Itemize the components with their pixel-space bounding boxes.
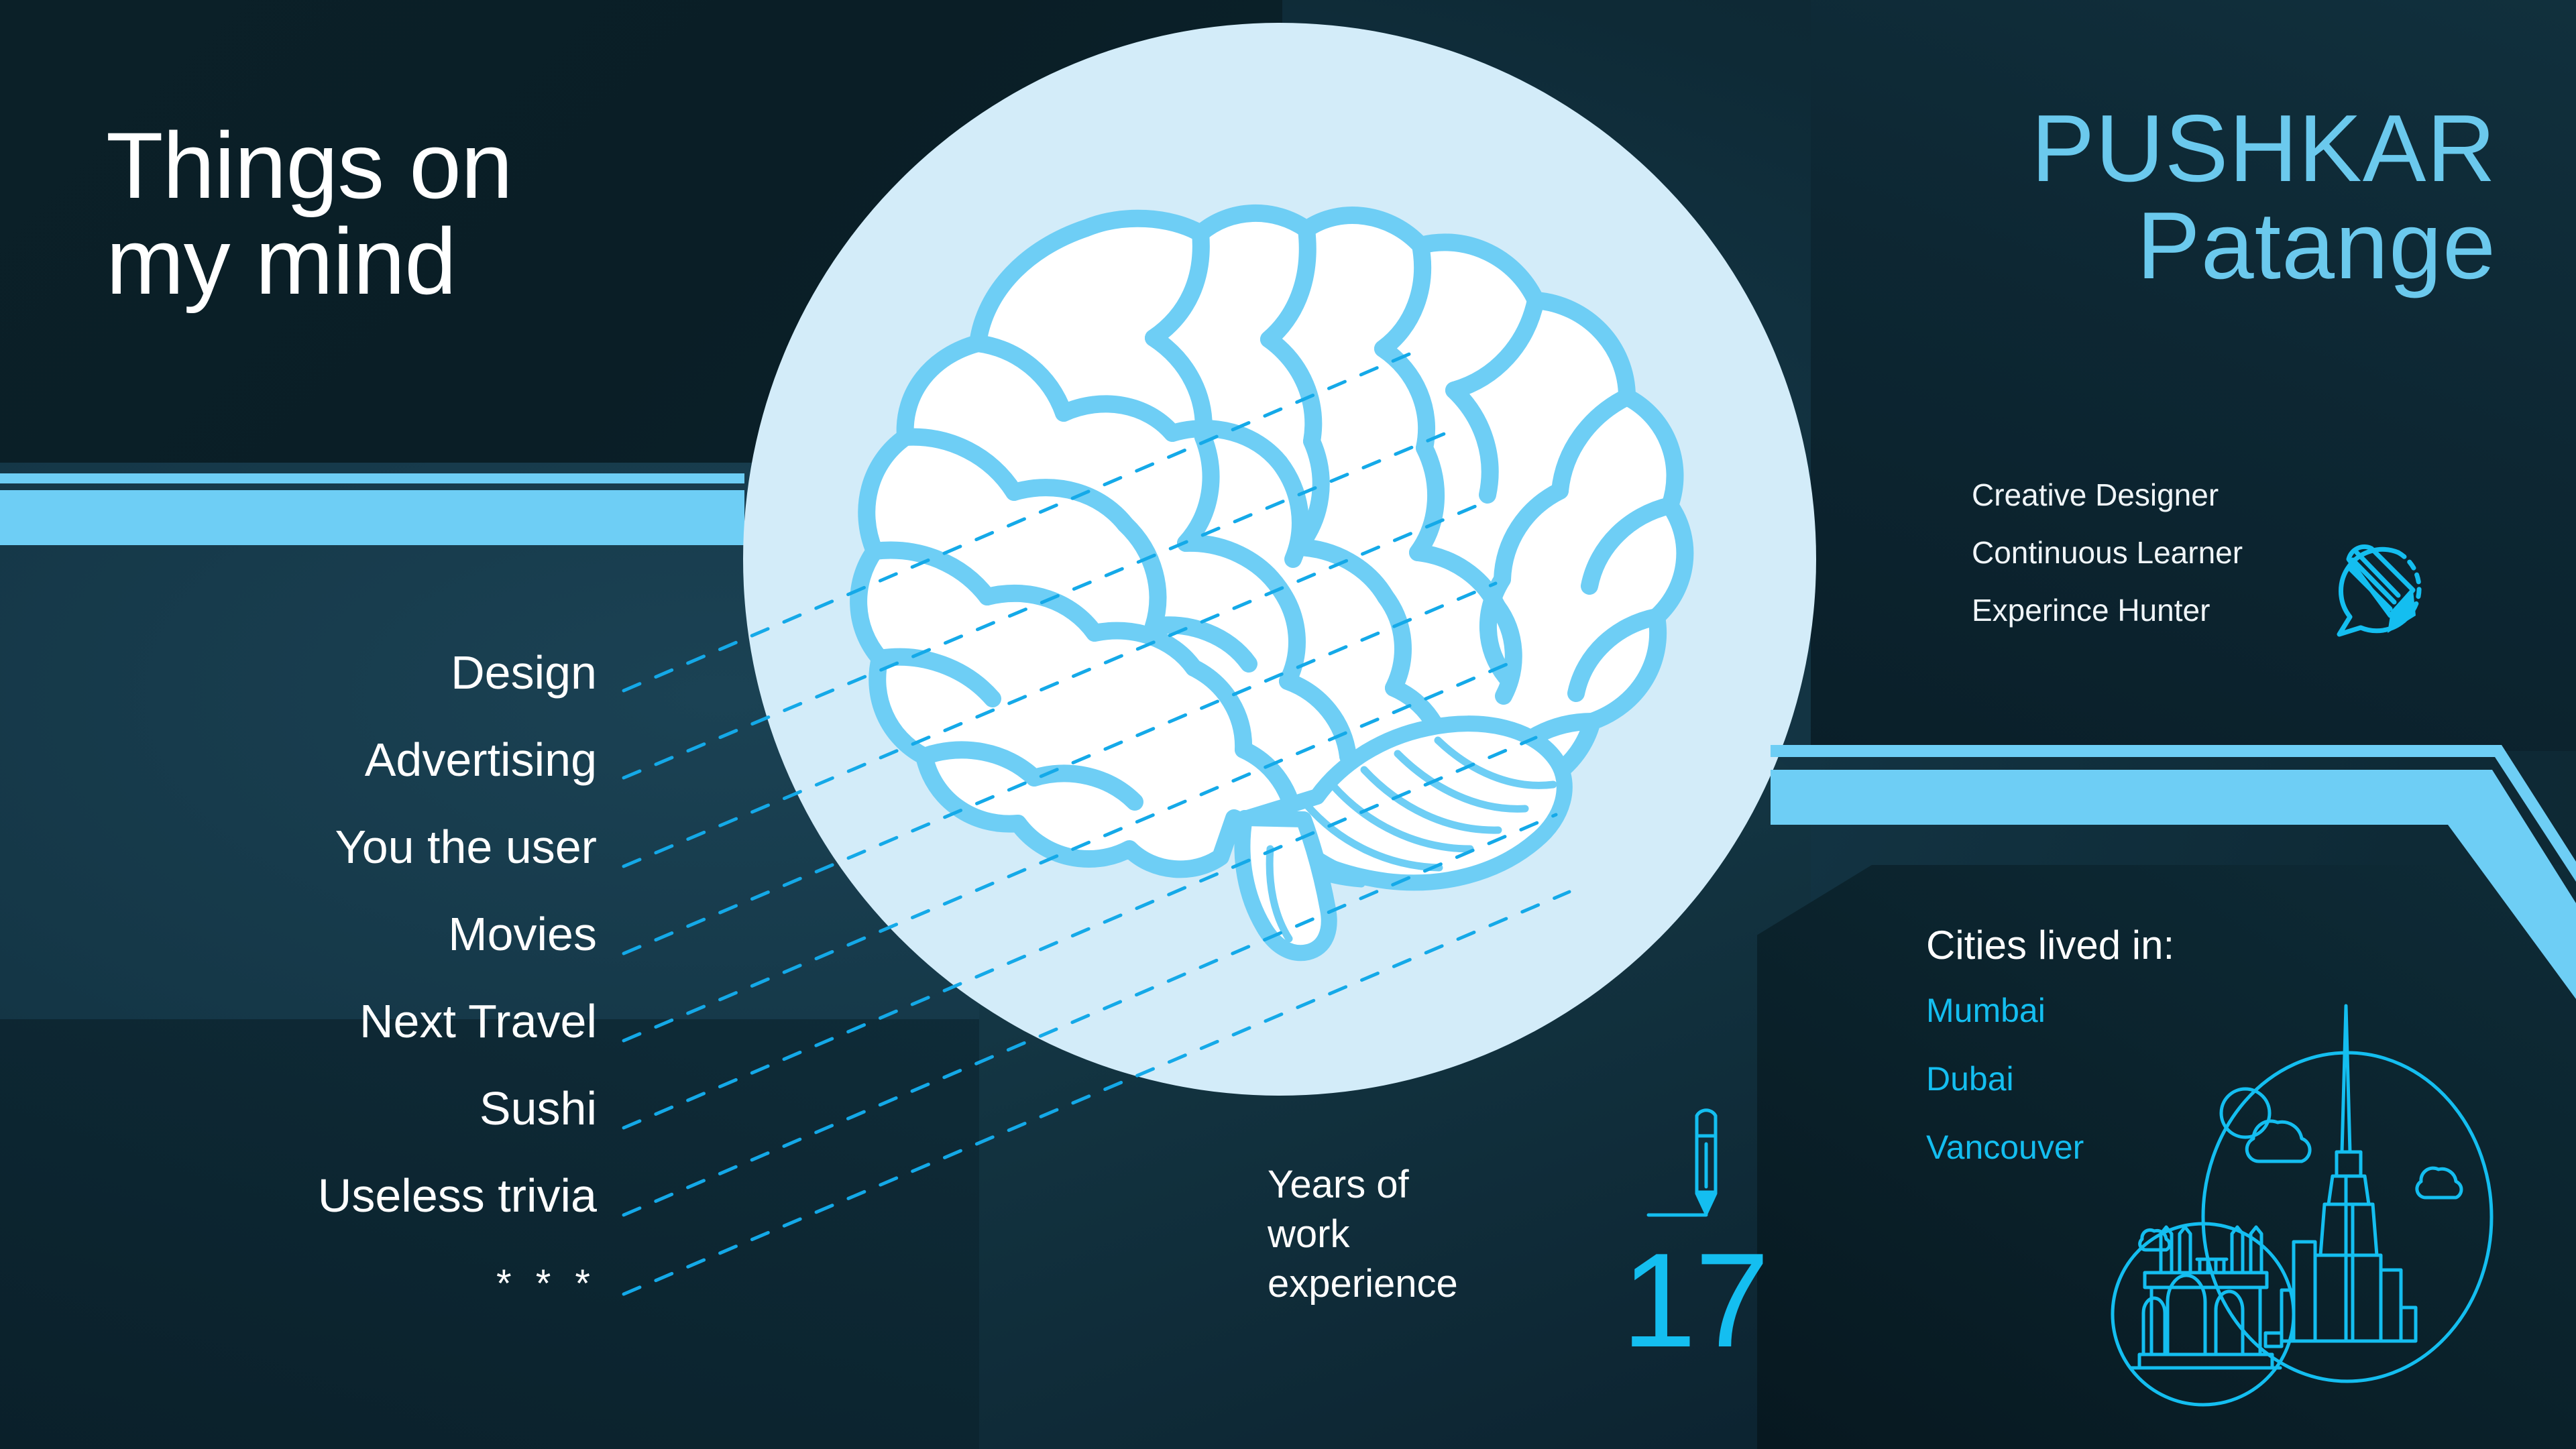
skyline-icon [2066, 992, 2522, 1422]
profile-last-name: Patange [1811, 198, 2496, 295]
experience-value: 17 [1622, 1234, 1768, 1368]
mind-list: Design Advertising You the user Movies N… [0, 649, 604, 1346]
experience-label-line2: work [1268, 1210, 1549, 1259]
cities-title: Cities lived in: [1926, 925, 2302, 966]
brain-icon [805, 148, 1757, 986]
accent-bar-left-thick [0, 490, 744, 545]
pencil-chat-icon [2319, 536, 2447, 650]
list-item: Next Travel [0, 998, 604, 1085]
profile-role: Continuous Learner [1972, 537, 2347, 568]
page-title-line1: Things on [106, 118, 512, 214]
accent-bar-left-thin [0, 473, 744, 483]
experience-block: Years of work experience [1268, 1160, 1549, 1310]
profile-first-name: PUSHKAR [1811, 101, 2496, 198]
list-item: Movies [0, 911, 604, 998]
experience-label-line1: Years of [1268, 1160, 1549, 1210]
list-item-ellipsis: * * * [0, 1259, 604, 1346]
page-title: Things on my mind [106, 118, 512, 310]
list-item: Design [0, 649, 604, 736]
pencil-drawing-icon [1636, 1106, 1737, 1227]
list-item: Useless trivia [0, 1172, 604, 1259]
experience-label-line3: experience [1268, 1259, 1549, 1309]
list-item: Sushi [0, 1085, 604, 1172]
page-title-line2: my mind [106, 214, 512, 310]
list-item: Advertising [0, 736, 604, 823]
list-item: You the user [0, 823, 604, 911]
infographic-canvas: Things on my mind Design Advertising You… [0, 0, 2576, 1449]
profile-role: Experince Hunter [1972, 595, 2347, 626]
profile-role: Creative Designer [1972, 479, 2347, 510]
profile-roles: Creative Designer Continuous Learner Exp… [1972, 479, 2347, 626]
profile-name: PUSHKAR Patange [1811, 101, 2535, 295]
